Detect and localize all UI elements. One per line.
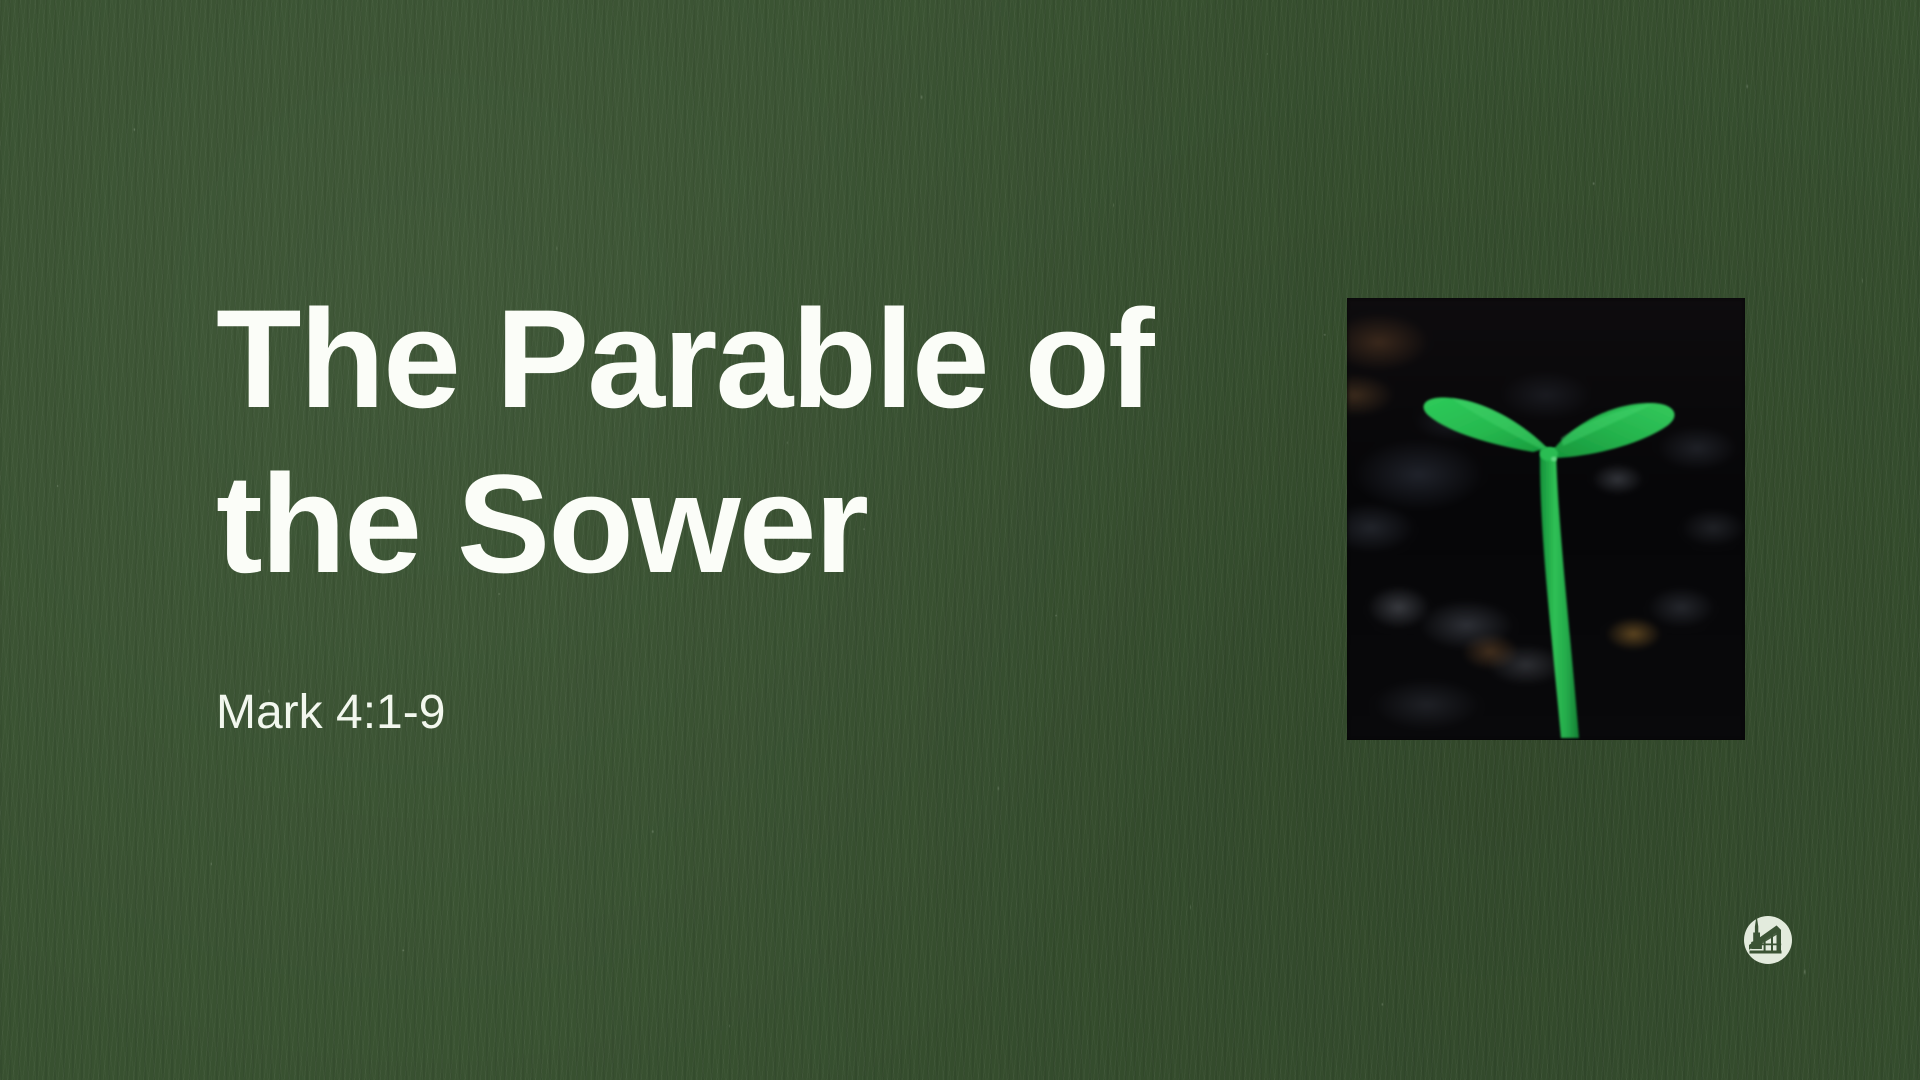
- seedling-photo: [1347, 298, 1745, 740]
- sprout-illustration: [1347, 298, 1745, 740]
- scripture-reference-subtitle: Mark 4:1-9: [216, 684, 445, 742]
- church-logo-icon: [1740, 912, 1796, 968]
- church-logo: [1740, 912, 1796, 968]
- slide-title: The Parable of the Sower: [216, 276, 1216, 606]
- title-slide: The Parable of the Sower Mark 4:1-9: [0, 0, 1920, 1080]
- title-text-block: The Parable of the Sower: [216, 276, 1216, 606]
